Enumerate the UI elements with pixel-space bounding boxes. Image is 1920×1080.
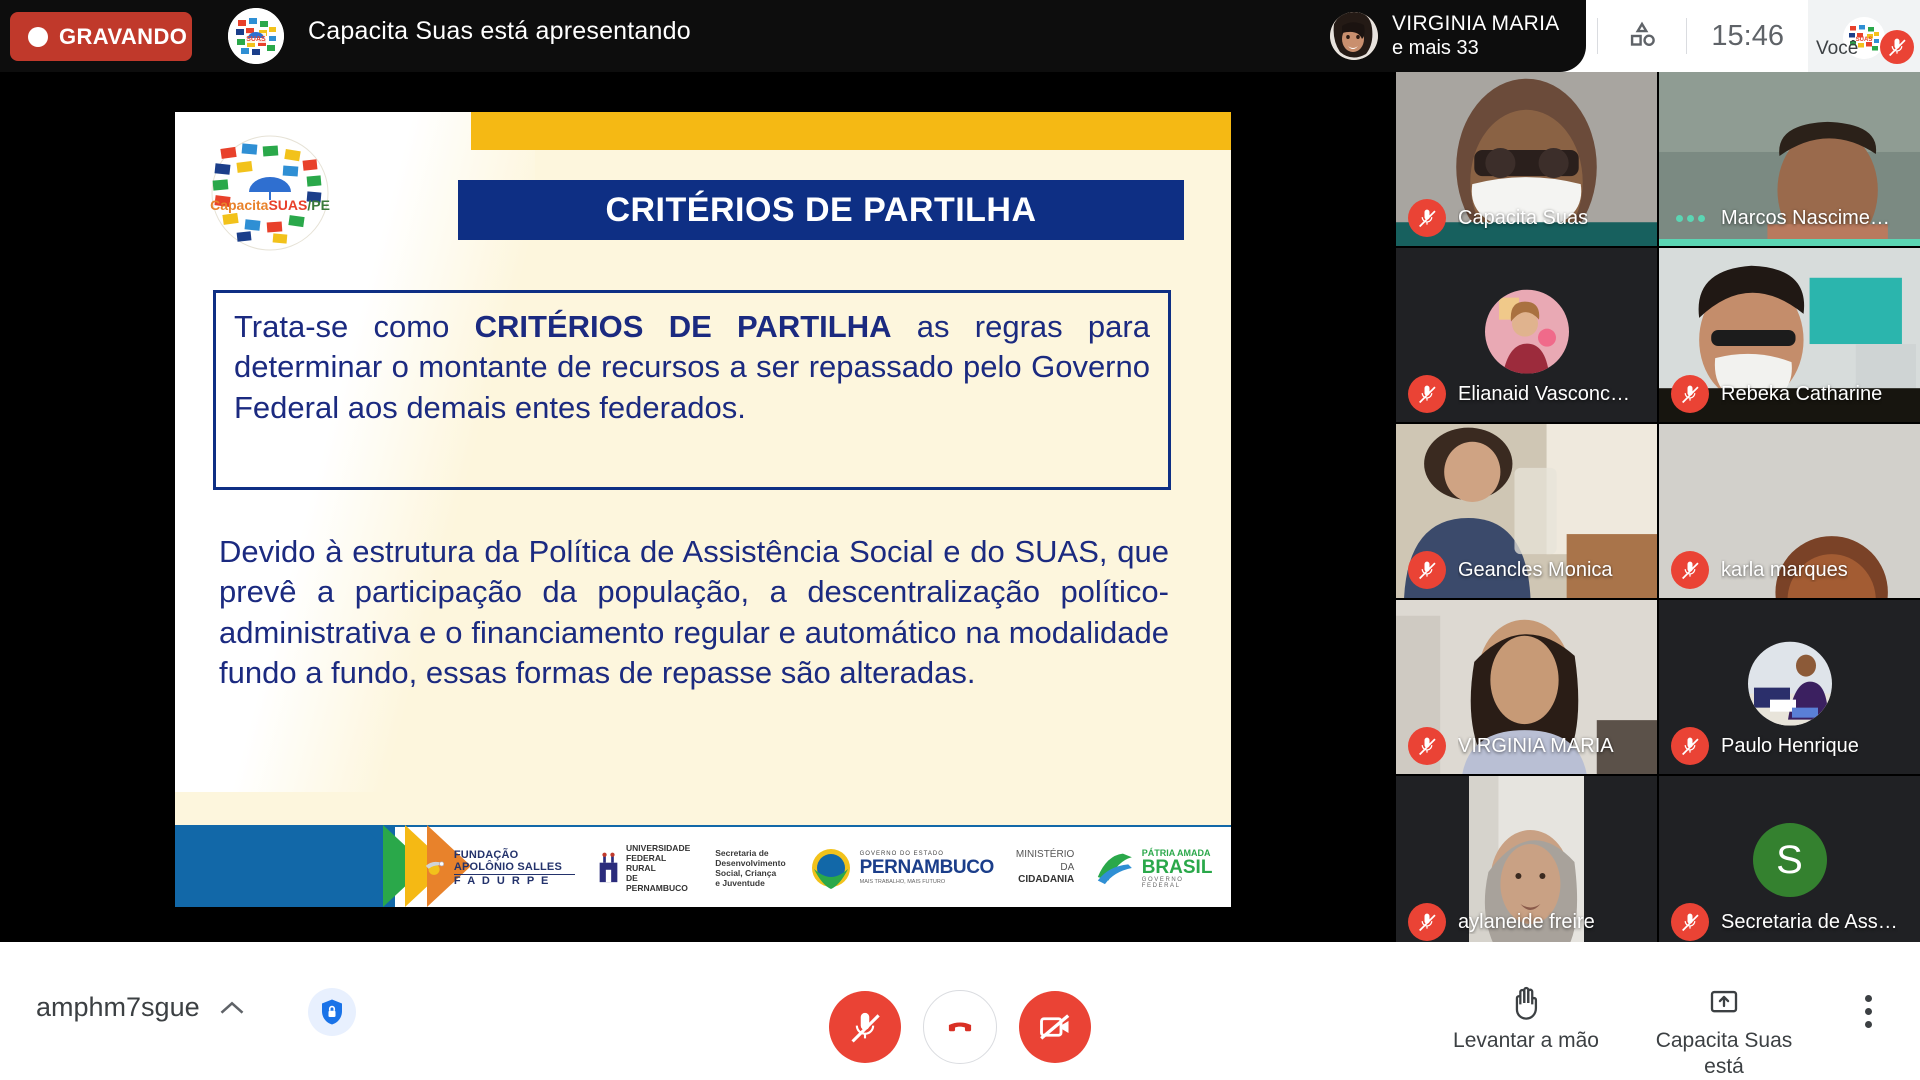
mic-off-icon <box>1408 375 1446 413</box>
avatar-initial: S <box>1753 823 1827 897</box>
mic-off-icon <box>1880 30 1914 64</box>
top-right-controls: VIRGINIA MARIA e mais 33 46 <box>1320 0 1920 72</box>
slide-paragraph-2: Devido à estrutura da Política de Assist… <box>219 532 1169 693</box>
avatar <box>1485 290 1569 374</box>
present-label-line1: Capacita Suas <box>1656 1029 1793 1052</box>
recording-indicator: GRAVANDO <box>10 12 192 61</box>
tile-footer: VIRGINIA MARIA <box>1396 718 1657 774</box>
secretaria-desenvolvimento-social-logo: Secretaria de Desenvolvimento Social, Cr… <box>715 848 785 889</box>
recording-label: GRAVANDO <box>59 24 187 50</box>
top-bar: GRAVANDO SUAS Capacita Suas e <box>0 0 1920 72</box>
slide-gold-band <box>471 112 1231 150</box>
slide-p1-prefix: Trata-se como <box>234 309 475 344</box>
slide-paragraph-1: Trata-se como CRITÉRIOS DE PARTILHA as r… <box>234 307 1150 428</box>
shield-lock-icon[interactable] <box>308 988 356 1036</box>
tile-footer: Marcos Nascime… <box>1659 190 1920 246</box>
svg-text:CapacitaSUAS/PE: CapacitaSUAS/PE <box>210 197 330 213</box>
participant-name: Elianaid Vasconc… <box>1458 383 1630 406</box>
footer-logo-text: Secretaria de Desenvolvimento Social, Cr… <box>715 848 785 889</box>
call-controls <box>829 990 1091 1064</box>
mic-toggle-button[interactable] <box>829 991 901 1063</box>
slide-title-bar: CRITÉRIOS DE PARTILHA <box>458 180 1184 240</box>
fundacao-apolonio-salles-logo: FUNDAÇÃO APOLÔNIO SALLES F A D U R P E <box>423 849 575 887</box>
governo-pernambuco-logo: GOVERNO DO ESTADO PERNAMBUCO MAIS TRABAL… <box>808 843 994 893</box>
participant-tile[interactable]: VIRGINIA MARIA <box>1396 600 1657 774</box>
svg-text:SUAS: SUAS <box>246 36 266 43</box>
present-label-line2: está apresentando <box>1660 1055 1788 1080</box>
participant-name: Rebeka Catharine <box>1721 383 1882 406</box>
capacita-suas-logo-icon: SUAS <box>228 8 284 64</box>
participant-tile[interactable]: Capacita Suas <box>1396 72 1657 246</box>
participant-name: aylaneide freire <box>1458 911 1595 934</box>
tile-footer: Elianaid Vasconc… <box>1396 366 1657 422</box>
meeting-code-button[interactable]: amphm7sgue <box>36 992 246 1023</box>
clock: 15:46 <box>1687 20 1808 53</box>
mic-off-icon <box>1408 903 1446 941</box>
slide-p1-bold: CRITÉRIOS DE PARTILHA <box>475 309 892 344</box>
meeting-code: amphm7sgue <box>36 992 200 1023</box>
participant-tile[interactable]: Geancles Monica <box>1396 424 1657 598</box>
self-view-label: Você <box>1816 38 1858 60</box>
present-label: Capacita Suas está apresentando <box>1640 1028 1808 1080</box>
participant-tile[interactable]: Paulo Henrique <box>1659 600 1920 774</box>
slide-title: CRITÉRIOS DE PARTILHA <box>605 191 1036 230</box>
speaking-indicator-icon <box>1671 199 1709 237</box>
participant-name: Capacita Suas <box>1458 207 1588 230</box>
mic-off-icon <box>1408 727 1446 765</box>
patria-amada-brasil-logo: PÁTRIA AMADA BRASIL GOVERNO FEDERAL <box>1096 848 1217 889</box>
tile-footer: Geancles Monica <box>1396 542 1657 598</box>
self-view-thumbnail[interactable]: SUAS Você <box>1808 0 1920 72</box>
participant-name: Marcos Nascime… <box>1721 207 1890 230</box>
participant-name: Geancles Monica <box>1458 559 1613 582</box>
mic-off-icon <box>1671 551 1709 589</box>
slide-highlight-box: Trata-se como CRITÉRIOS DE PARTILHA as r… <box>213 290 1171 490</box>
mic-off-icon <box>1671 375 1709 413</box>
footer-logo-text: MINISTÉRIO DA CIDADANIA <box>1016 849 1074 887</box>
participant-tile[interactable]: Marcos Nascime… <box>1659 72 1920 246</box>
active-speaker-name: VIRGINIA MARIA <box>1392 12 1560 37</box>
meet-window: GRAVANDO SUAS Capacita Suas e <box>0 0 1920 1080</box>
bottom-bar: amphm7sgue <box>0 942 1920 1080</box>
active-speaker-others: e mais 33 <box>1392 37 1560 61</box>
footer-logo-text: FUNDAÇÃO APOLÔNIO SALLES F A D U R P E <box>454 849 575 887</box>
participant-name: VIRGINIA MARIA <box>1458 735 1614 758</box>
activities-button[interactable] <box>1598 0 1686 72</box>
footer-logo-text: GOVERNO DO ESTADO PERNAMBUCO MAIS TRABAL… <box>860 851 994 885</box>
tile-footer: Rebeka Catharine <box>1659 366 1920 422</box>
participant-name: karla marques <box>1721 559 1848 582</box>
avatar <box>1748 642 1832 726</box>
chevron-up-icon[interactable] <box>218 999 246 1017</box>
present-up-icon <box>1707 982 1741 1024</box>
mic-off-icon <box>1408 551 1446 589</box>
mic-off-icon <box>1671 903 1709 941</box>
right-controls: Levantar a mão Capacita Suas está aprese… <box>1442 970 1898 1080</box>
present-now-button[interactable]: Capacita Suas está apresentando <box>1640 970 1808 1080</box>
footer-logo-text: PÁTRIA AMADA BRASIL GOVERNO FEDERAL <box>1142 848 1217 889</box>
mic-off-icon <box>1671 727 1709 765</box>
presentation-stage[interactable]: CapacitaSUAS/PE CRITÉRIOS DE PARTILHA Tr… <box>0 72 1396 942</box>
raise-hand-button[interactable]: Levantar a mão <box>1442 970 1610 1054</box>
participant-name: Secretaria de Ass… <box>1721 911 1898 934</box>
hangup-button[interactable] <box>923 990 997 1064</box>
participant-tile[interactable]: Elianaid Vasconc… <box>1396 248 1657 422</box>
active-speaker-avatar <box>1330 12 1378 60</box>
slide-content: CapacitaSUAS/PE CRITÉRIOS DE PARTILHA Tr… <box>175 112 1231 907</box>
participant-tile[interactable]: aylaneide freire <box>1396 776 1657 950</box>
slide-footer: FUNDAÇÃO APOLÔNIO SALLES F A D U R P E U… <box>175 825 1231 907</box>
participant-tile[interactable]: Rebeka Catharine <box>1659 248 1920 422</box>
capacita-suas-pe-logo: CapacitaSUAS/PE <box>197 134 343 252</box>
tile-footer: karla marques <box>1659 542 1920 598</box>
mic-off-icon <box>1408 199 1446 237</box>
more-vert-icon <box>1865 992 1872 1031</box>
active-speaker-chip: VIRGINIA MARIA e mais 33 <box>1320 0 1586 72</box>
more-options-button[interactable] <box>1838 970 1898 1052</box>
tile-footer: Capacita Suas <box>1396 190 1657 246</box>
footer-logo-strip: FUNDAÇÃO APOLÔNIO SALLES F A D U R P E U… <box>423 827 1217 907</box>
presenting-title: Capacita Suas está apresentando <box>308 17 691 46</box>
record-dot-icon <box>28 27 48 47</box>
participant-tile-grid: Capacita Suas Marcos Nascime… <box>1396 72 1920 942</box>
speaking-bar <box>1659 239 1920 246</box>
ufrpe-logo: UNIVERSIDADE FEDERAL RURAL DE PERNAMBUCO <box>597 843 693 894</box>
raise-hand-label: Levantar a mão <box>1453 1028 1599 1054</box>
tile-footer: Paulo Henrique <box>1659 718 1920 774</box>
participant-tile[interactable]: S Secretaria de Ass… <box>1659 776 1920 950</box>
footer-logo-text: UNIVERSIDADE FEDERAL RURAL DE PERNAMBUCO <box>626 843 693 894</box>
hand-icon <box>1509 982 1543 1024</box>
camera-toggle-button[interactable] <box>1019 991 1091 1063</box>
ministerio-da-cidadania-logo: MINISTÉRIO DA CIDADANIA <box>1016 849 1074 887</box>
participant-tile[interactable]: karla marques <box>1659 424 1920 598</box>
participant-name: Paulo Henrique <box>1721 735 1859 758</box>
